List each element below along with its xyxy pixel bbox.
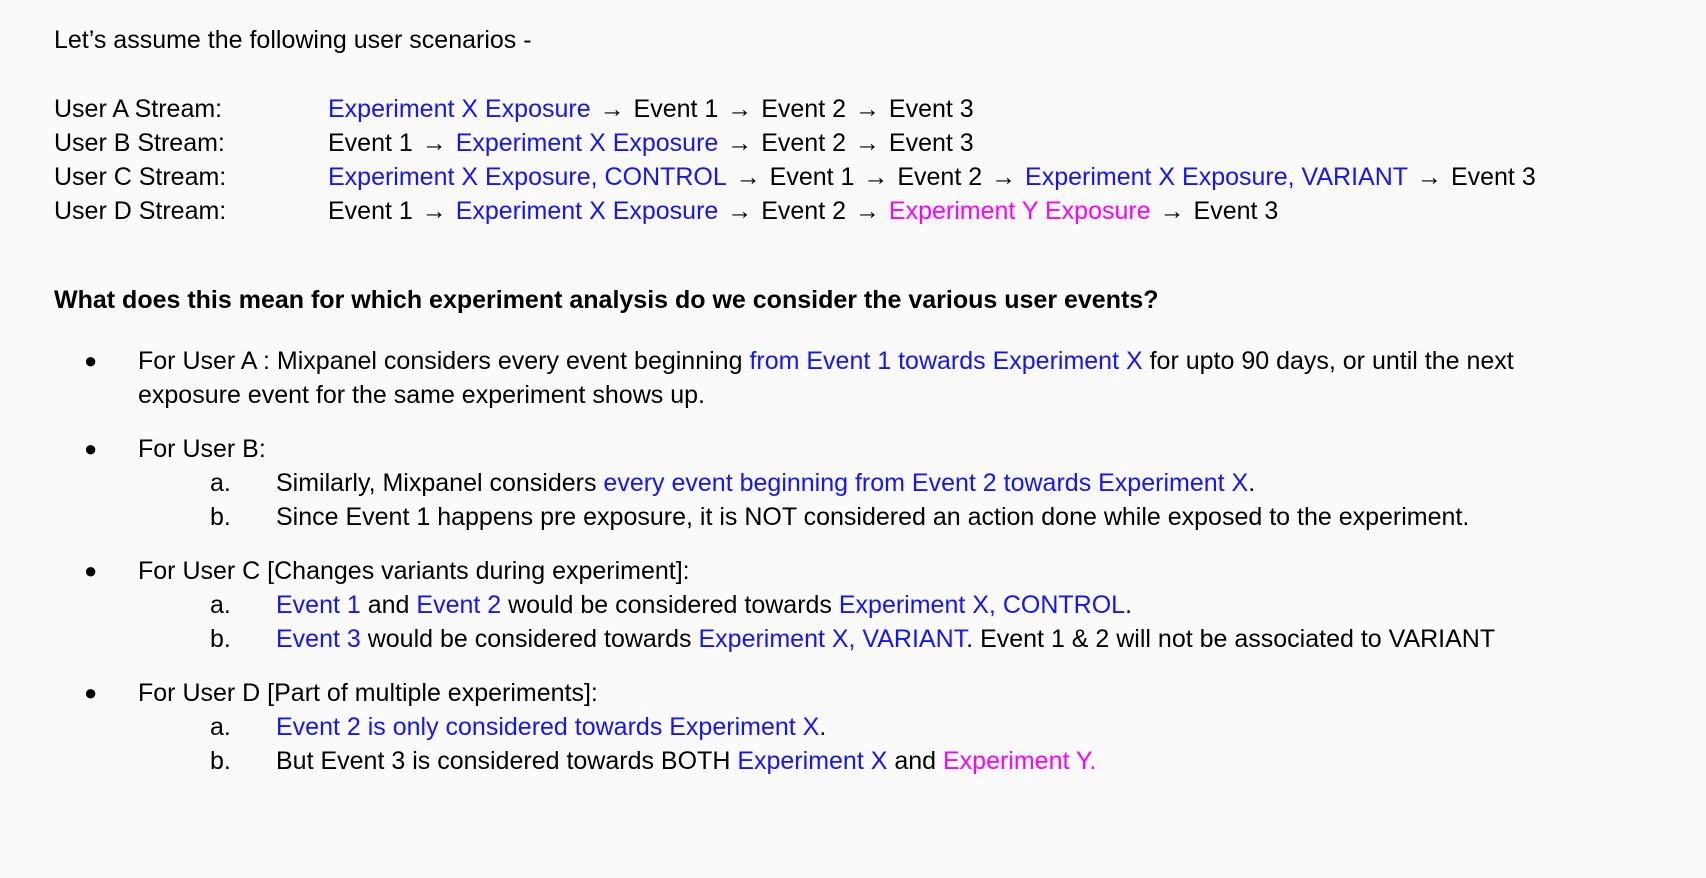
sub-list-text: Event 2 is only considered towards Exper… [276, 710, 1686, 744]
list-item: ●For User A : Mixpanel considers every e… [54, 344, 1686, 412]
arrow-icon: → [718, 129, 761, 157]
arrow-icon: → [727, 163, 770, 191]
stream-row: User A Stream:Experiment X Exposure → Ev… [54, 92, 1686, 126]
bullet-text: For User C [Changes variants during expe… [138, 554, 1618, 588]
sub-list-marker: a. [210, 588, 276, 622]
bullet-2-sub-1-segment-2: Experiment X, VARIANT [698, 625, 966, 653]
arrow-icon: → [591, 95, 634, 123]
arrow-icon: → [718, 197, 761, 225]
bullet-1-sub-0-segment-0: Similarly, Mixpanel considers [276, 469, 603, 497]
arrow-icon: → [1151, 197, 1194, 225]
bullet-marker-icon: ● [84, 432, 138, 466]
stream-3-segment-8: Event 3 [1194, 197, 1279, 225]
sub-list-text: Similarly, Mixpanel considers every even… [276, 466, 1686, 500]
stream-row: User B Stream:Event 1 → Experiment X Exp… [54, 126, 1686, 160]
stream-2-segment-8: Event 3 [1451, 163, 1536, 191]
arrow-icon: → [413, 197, 456, 225]
stream-0-segment-4: Event 2 [761, 95, 846, 123]
bullet-2-sub-1-segment-3: . Event 1 & 2 will not be associated to … [966, 625, 1495, 653]
stream-1-segment-2: Experiment X Exposure [456, 129, 719, 157]
stream-2-segment-4: Event 2 [897, 163, 982, 191]
stream-3-segment-2: Experiment X Exposure [456, 197, 719, 225]
sub-list-item: a.Similarly, Mixpanel considers every ev… [54, 466, 1686, 500]
bullet-block: ●For User C [Changes variants during exp… [54, 554, 1686, 656]
sub-list-item: b.Since Event 1 happens pre exposure, it… [54, 500, 1686, 534]
sub-list-marker: b. [210, 622, 276, 656]
stream-label: User A Stream: [54, 92, 328, 126]
bullet-text: For User A : Mixpanel considers every ev… [138, 344, 1618, 412]
stream-row: User C Stream:Experiment X Exposure, CON… [54, 160, 1686, 194]
bullet-3-sub-1-segment-0: But Event 3 is considered towards BOTH [276, 747, 737, 775]
bullet-block: ●For User D [Part of multiple experiment… [54, 676, 1686, 778]
bullet-1-segment-0: For User B: [138, 435, 266, 463]
bullet-2-sub-0-segment-4: Experiment X, CONTROL [839, 591, 1125, 619]
stream-3-segment-0: Event 1 [328, 197, 413, 225]
bullet-1-sub-0-segment-2: . [1248, 469, 1255, 497]
sub-list-item: b.But Event 3 is considered towards BOTH… [54, 744, 1686, 778]
bullet-marker-icon: ● [84, 554, 138, 588]
stream-flow: Experiment X Exposure → Event 1 → Event … [328, 92, 974, 126]
sub-list-text: But Event 3 is considered towards BOTH E… [276, 744, 1686, 778]
arrow-icon: → [854, 163, 897, 191]
bullet-2-sub-0-segment-1: and [361, 591, 417, 619]
stream-label: User D Stream: [54, 194, 328, 228]
arrow-icon: → [1408, 163, 1451, 191]
bullet-text: For User D [Part of multiple experiments… [138, 676, 1618, 710]
list-item: ●For User B: [54, 432, 1686, 466]
sub-list-marker: a. [210, 466, 276, 500]
sub-list-marker: b. [210, 500, 276, 534]
stream-flow: Experiment X Exposure, CONTROL → Event 1… [328, 160, 1536, 194]
bullet-marker-icon: ● [84, 676, 138, 710]
bullet-3-sub-1-segment-3: Experiment Y. [943, 747, 1096, 775]
bullet-1-sub-1-segment-0: Since Event 1 happens pre exposure, it i… [276, 503, 1469, 531]
arrow-icon: → [846, 129, 889, 157]
bullet-2-segment-0: For User C [Changes variants during expe… [138, 557, 690, 585]
bullet-2-sub-0-segment-5: . [1125, 591, 1132, 619]
stream-flow: Event 1 → Experiment X Exposure → Event … [328, 194, 1278, 228]
bullet-2-sub-1-segment-0: Event 3 [276, 625, 361, 653]
question-heading: What does this mean for which experiment… [54, 284, 1686, 316]
sub-list-marker: a. [210, 710, 276, 744]
arrow-icon: → [846, 95, 889, 123]
list-item: ●For User D [Part of multiple experiment… [54, 676, 1686, 710]
arrow-icon: → [846, 197, 889, 225]
bullet-block: ●For User B:a.Similarly, Mixpanel consid… [54, 432, 1686, 534]
stream-label: User B Stream: [54, 126, 328, 160]
bullet-3-sub-1-segment-1: Experiment X [737, 747, 887, 775]
analysis-bullet-list: ●For User A : Mixpanel considers every e… [54, 344, 1686, 778]
bullet-3-sub-0-segment-1: . [819, 713, 826, 741]
bullet-3-segment-0: For User D [Part of multiple experiments… [138, 679, 598, 707]
list-item: ●For User C [Changes variants during exp… [54, 554, 1686, 588]
bullet-3-sub-0-segment-0: Event 2 is only considered towards Exper… [276, 713, 819, 741]
intro-paragraph: Let’s assume the following user scenario… [54, 22, 1686, 58]
bullet-2-sub-0-segment-0: Event 1 [276, 591, 361, 619]
stream-0-segment-2: Event 1 [634, 95, 719, 123]
bullet-block: ●For User A : Mixpanel considers every e… [54, 344, 1686, 412]
bullet-0-segment-0: For User A : Mixpanel considers every ev… [138, 347, 749, 375]
stream-0-segment-6: Event 3 [889, 95, 974, 123]
bullet-2-sub-0-segment-3: would be considered towards [501, 591, 839, 619]
stream-3-segment-6: Experiment Y Exposure [889, 197, 1151, 225]
sub-list-text: Since Event 1 happens pre exposure, it i… [276, 500, 1686, 534]
document-page: Let’s assume the following user scenario… [0, 0, 1706, 878]
sub-list-text: Event 1 and Event 2 would be considered … [276, 588, 1686, 622]
stream-2-segment-2: Event 1 [770, 163, 855, 191]
sub-list-text: Event 3 would be considered towards Expe… [276, 622, 1686, 656]
sub-list-marker: b. [210, 744, 276, 778]
bullet-text: For User B: [138, 432, 1618, 466]
stream-1-segment-6: Event 3 [889, 129, 974, 157]
bullet-2-sub-0-segment-2: Event 2 [416, 591, 501, 619]
stream-row: User D Stream:Event 1 → Experiment X Exp… [54, 194, 1686, 228]
stream-1-segment-0: Event 1 [328, 129, 413, 157]
user-stream-list: User A Stream:Experiment X Exposure → Ev… [54, 92, 1686, 228]
bullet-1-sub-0-segment-1: every event beginning from Event 2 towar… [603, 469, 1248, 497]
arrow-icon: → [413, 129, 456, 157]
arrow-icon: → [718, 95, 761, 123]
bullet-3-sub-1-segment-2: and [887, 747, 943, 775]
sub-list-item: a.Event 2 is only considered towards Exp… [54, 710, 1686, 744]
stream-0-segment-0: Experiment X Exposure [328, 95, 591, 123]
stream-2-segment-6: Experiment X Exposure, VARIANT [1025, 163, 1408, 191]
arrow-icon: → [982, 163, 1025, 191]
stream-3-segment-4: Event 2 [761, 197, 846, 225]
bullet-marker-icon: ● [84, 344, 138, 378]
stream-2-segment-0: Experiment X Exposure, CONTROL [328, 163, 727, 191]
sub-list-item: a.Event 1 and Event 2 would be considere… [54, 588, 1686, 622]
sub-list-item: b.Event 3 would be considered towards Ex… [54, 622, 1686, 656]
bullet-2-sub-1-segment-1: would be considered towards [361, 625, 699, 653]
stream-1-segment-4: Event 2 [761, 129, 846, 157]
stream-flow: Event 1 → Experiment X Exposure → Event … [328, 126, 974, 160]
bullet-0-segment-1: from Event 1 towards Experiment X [749, 347, 1142, 375]
stream-label: User C Stream: [54, 160, 328, 194]
